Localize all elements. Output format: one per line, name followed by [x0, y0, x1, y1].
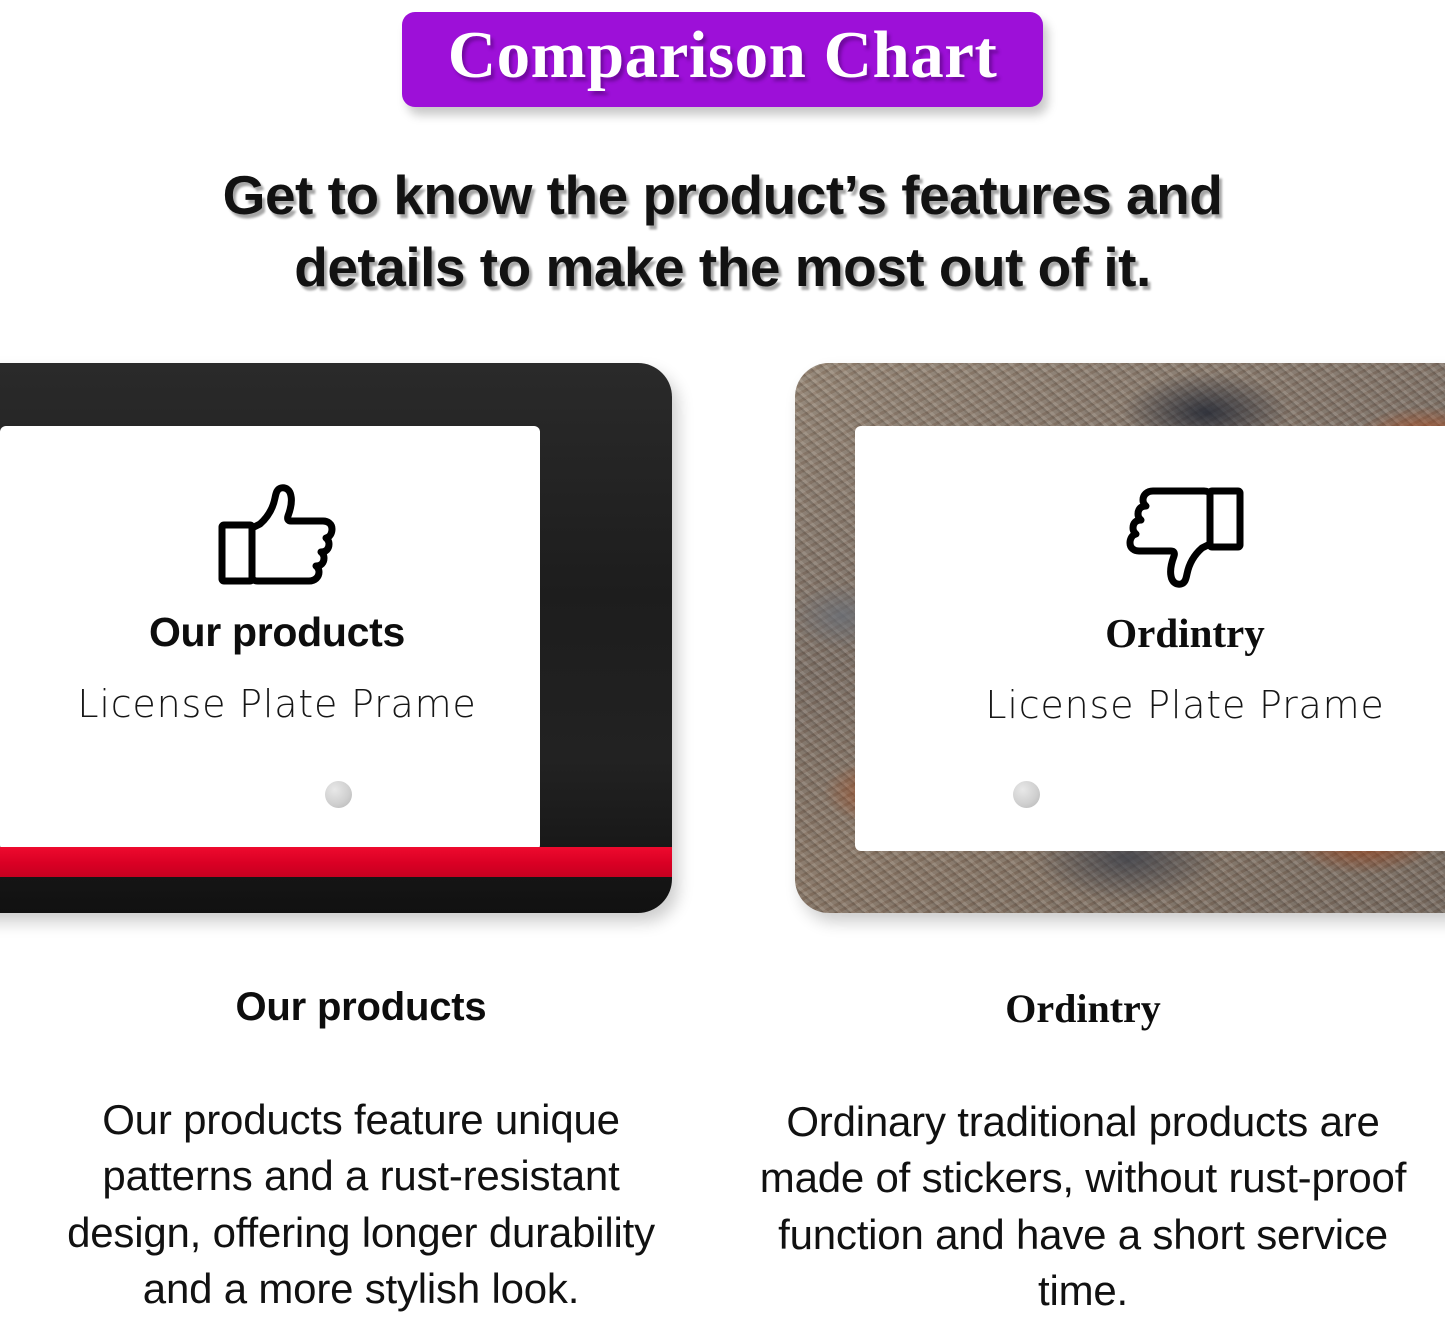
banner-container: Comparison Chart: [0, 12, 1445, 107]
window-chamfer-ordinary: [855, 426, 929, 472]
comparison-chart-banner: Comparison Chart: [402, 12, 1044, 107]
subtitle-line-1: Get to know the product’s features and: [0, 160, 1445, 232]
window-subtitle-ours: License Plate Prame: [0, 682, 672, 726]
red-accent-stripe: [0, 847, 672, 877]
comparison-column-ours: Our products Our products feature unique…: [0, 985, 722, 1319]
window-chamfer-ours: [342, 426, 416, 472]
comparison-text-row: Our products Our products feature unique…: [0, 985, 1445, 1319]
subtitle-line-2: details to make the most out of it.: [0, 232, 1445, 304]
comparison-column-ordinary: Ordintry Ordinary traditional products a…: [722, 985, 1444, 1319]
thumbs-up-icon: [0, 481, 672, 591]
column-heading-ours: Our products: [34, 985, 688, 1030]
page-title: Comparison Chart: [448, 18, 998, 93]
window-subtitle-ordinary: License Plate Prame: [855, 683, 1445, 727]
ordinary-product-frame: Ordintry License Plate Prame: [795, 363, 1445, 913]
subtitle: Get to know the product’s features and d…: [0, 160, 1445, 303]
mounting-hole-icon-ours: [325, 781, 352, 808]
window-title-ordinary: Ordintry: [855, 609, 1445, 657]
product-images-row: Our products License Plate Prame Ordintr…: [0, 355, 1445, 920]
window-title-ours: Our products: [0, 609, 672, 656]
mounting-hole-icon-ordinary: [1013, 781, 1040, 808]
column-description-ours: Our products feature unique patterns and…: [34, 1092, 688, 1317]
column-heading-ordinary: Ordintry: [756, 985, 1410, 1032]
column-description-ordinary: Ordinary traditional products are made o…: [756, 1094, 1410, 1319]
our-product-frame: Our products License Plate Prame: [0, 363, 672, 913]
thumbs-down-icon: [855, 481, 1445, 591]
